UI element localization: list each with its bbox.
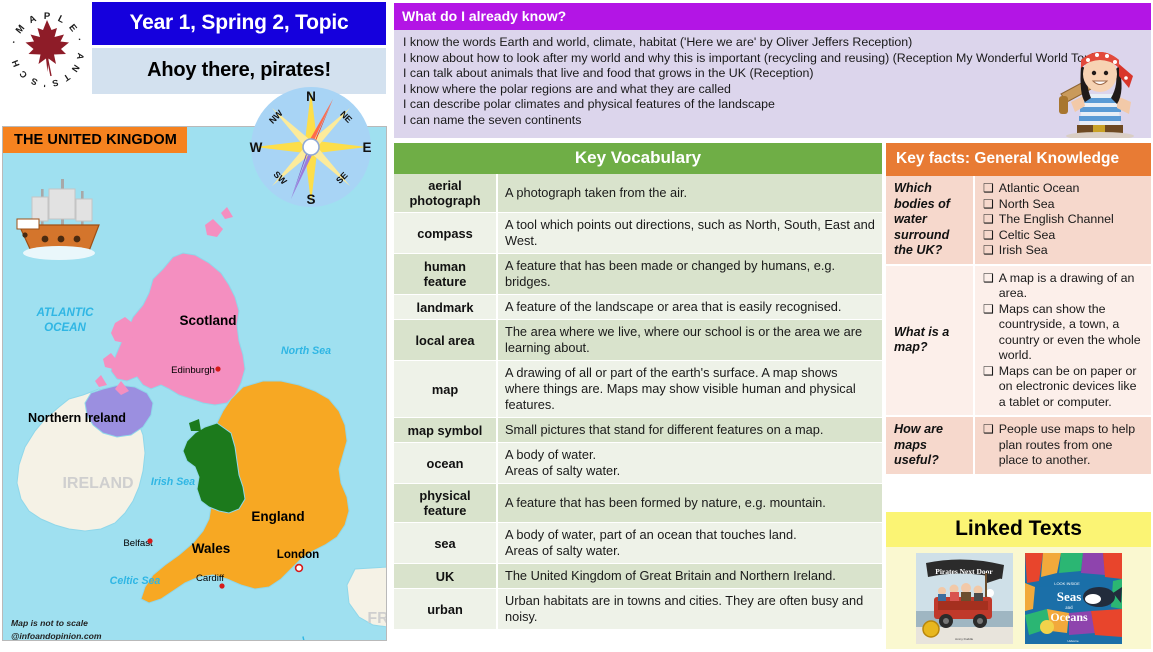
checkbox-icon: ❑ [983,364,994,380]
map-water-celtic-sea: Celtic Sea [110,575,161,587]
map-label-scotland: Scotland [179,313,236,328]
vocab-definition: Small pictures that stand for different … [497,418,882,443]
prior-knowledge-item: I know the words Earth and world, climat… [403,35,1143,51]
key-facts-answer-item: Atlantic Ocean [999,181,1145,197]
checkbox-icon: ❑ [983,212,994,228]
key-facts-answers: ❑Atlantic Ocean ❑North Sea ❑The English … [974,176,1151,265]
key-facts-question: How are maps useful? [886,416,974,475]
prior-knowledge-heading: What do I already know? [394,3,1151,30]
map-city-cardiff: Cardiff [196,573,224,584]
svg-text:E: E [362,140,371,155]
checkbox-icon: ❑ [983,197,994,213]
linked-texts-heading: Linked Texts [886,512,1151,547]
vocab-term: human feature [394,254,497,295]
table-row: map symbolSmall pictures that stand for … [394,418,882,443]
map-label-wales: Wales [192,541,231,556]
key-facts-question: Which bodies of water surround the UK? [886,176,974,265]
vocab-term: urban [394,589,497,630]
page-title-term: Year 1, Spring 2, Topic [92,2,386,45]
map-city-london: London [277,548,320,561]
vocab-term: sea [394,523,497,564]
checkbox-icon: ❑ [983,302,994,318]
key-facts-panel: Key facts: General Knowledge Which bodie… [886,143,1151,506]
key-facts-answer-item: North Sea [999,197,1145,213]
map-water-atlantic-2: OCEAN [44,321,86,334]
map-credit-source: @infoandopinion.com [11,631,102,641]
prior-knowledge-item: I can name the seven continents [403,113,1143,129]
compass-rose-icon: N S E W NW NE SW SE [247,83,375,211]
vocab-term: ocean [394,443,497,484]
map-label-ireland: IRELAND [62,475,133,492]
linked-texts-book-list: Pirates Next Door Jonny Duddle [886,547,1151,644]
vocab-definition: The area where we live, where our school… [497,320,882,361]
vocab-definition: A feature of the landscape or area that … [497,295,882,320]
svg-text:Pirates Next Door: Pirates Next Door [935,567,993,576]
key-facts-answer-item: Maps can be on paper or on electronic de… [999,364,1145,411]
vocab-definition: A drawing of all or part of the earth's … [497,361,882,418]
knowledge-organiser-page: · M A P L E · I N F A N T S ' S C H O O … [0,0,1153,652]
seas-and-oceans-cover[interactable]: LOOK INSIDE Seas and Oceans Usborne [1025,553,1122,644]
key-facts-answer-item: The English Channel [999,212,1145,228]
table-row: What is a map? ❑A map is a drawing of an… [886,265,1151,417]
svg-text:Usborne: Usborne [1067,639,1079,643]
table-row: local areaThe area where we live, where … [394,320,882,361]
svg-text:Oceans: Oceans [1050,610,1088,624]
svg-text:LOOK INSIDE: LOOK INSIDE [1054,581,1080,586]
map-water-irish-sea: Irish Sea [151,476,195,488]
vocab-term: UK [394,564,497,589]
vocab-definition: A feature that has been made or changed … [497,254,882,295]
prior-knowledge-panel: What do I already know? I know the words… [394,3,1151,139]
key-vocabulary-heading: Key Vocabulary [394,143,882,174]
prior-knowledge-item: I know where the polar regions are and w… [403,82,1143,98]
vocab-definition: A body of water, part of an ocean that t… [497,523,882,564]
table-row: Which bodies of water surround the UK? ❑… [886,176,1151,265]
vocab-definition: A feature that has been formed by nature… [497,484,882,523]
key-facts-answer-item: A map is a drawing of an area. [999,271,1145,302]
table-row: aerial photographA photograph taken from… [394,174,882,213]
map-water-atlantic-1: ATLANTIC [35,306,94,319]
school-logo: · M A P L E · I N F A N T S ' S C H O O … [4,4,90,90]
table-row: compassA tool which points out direction… [394,213,882,254]
topic-title-block: Year 1, Spring 2, Topic Ahoy there, pira… [92,2,386,94]
map-label-northern-ireland: Northern Ireland [28,411,126,425]
map-label-england: England [251,509,304,524]
vocab-definition: A body of water. Areas of salty water. [497,443,882,484]
svg-text:Seas: Seas [1056,589,1081,604]
prior-knowledge-item: I can describe polar climates and physic… [403,97,1143,113]
vocab-term: local area [394,320,497,361]
key-vocabulary-table: aerial photographA photograph taken from… [394,174,882,630]
vocab-term: map symbol [394,418,497,443]
map-title-banner: THE UNITED KINGDOM [3,127,187,153]
key-facts-answers: ❑People use maps to help plan routes fro… [974,416,1151,475]
table-row: UKThe United Kingdom of Great Britain an… [394,564,882,589]
pirate-boy-icon [1057,36,1143,138]
prior-knowledge-body: I know the words Earth and world, climat… [394,30,1151,138]
vocab-term: physical feature [394,484,497,523]
key-facts-heading: Key facts: General Knowledge [886,143,1151,176]
table-row: physical featureA feature that has been … [394,484,882,523]
key-facts-question: What is a map? [886,265,974,417]
map-credit-scale: Map is not to scale [11,618,88,628]
vocab-definition: A tool which points out directions, such… [497,213,882,254]
checkbox-icon: ❑ [983,271,994,287]
pirates-next-door-cover[interactable]: Pirates Next Door Jonny Duddle [916,553,1013,644]
map-city-edinburgh: Edinburgh [171,365,215,376]
key-facts-answer-item: Irish Sea [999,243,1145,259]
linked-texts-panel: Linked Texts Pirates Next Door [886,512,1151,649]
map-water-north-sea: North Sea [281,345,331,357]
svg-text:W: W [250,140,263,155]
key-facts-answers: ❑A map is a drawing of an area. ❑Maps ca… [974,265,1151,417]
checkbox-icon: ❑ [983,181,994,197]
vocab-term: compass [394,213,497,254]
svg-text:N: N [306,89,316,104]
key-facts-answer-item: People use maps to help plan routes from… [999,422,1145,469]
maple-leaf-logo-icon: · M A P L E · I N F A N T S ' S C H O O … [4,4,90,90]
svg-text:S: S [306,192,315,207]
table-row: seaA body of water, part of an ocean tha… [394,523,882,564]
table-row: oceanA body of water. Areas of salty wat… [394,443,882,484]
vocab-definition: The United Kingdom of Great Britain and … [497,564,882,589]
vocab-definition: Urban habitats are in towns and cities. … [497,589,882,630]
map-label-france: FR [367,610,387,627]
svg-text:Jonny Duddle: Jonny Duddle [954,637,973,641]
checkbox-icon: ❑ [983,243,994,259]
vocab-definition: A photograph taken from the air. [497,174,882,213]
table-row: How are maps useful? ❑People use maps to… [886,416,1151,475]
key-facts-table: Which bodies of water surround the UK? ❑… [886,176,1151,476]
table-row: mapA drawing of all or part of the earth… [394,361,882,418]
vocab-term: map [394,361,497,418]
key-facts-answer-item: Maps can show the countryside, a town, a… [999,302,1145,364]
vocab-term: aerial photograph [394,174,497,213]
key-vocabulary-panel: Key Vocabulary aerial photographA photog… [394,143,882,649]
key-facts-answer-item: Celtic Sea [999,228,1145,244]
prior-knowledge-item: I know about how to look after my world … [403,51,1143,67]
checkbox-icon: ❑ [983,422,994,438]
table-row: human featureA feature that has been mad… [394,254,882,295]
vocab-term: landmark [394,295,497,320]
table-row: landmarkA feature of the landscape or ar… [394,295,882,320]
prior-knowledge-item: I can talk about animals that live and f… [403,66,1143,82]
checkbox-icon: ❑ [983,228,994,244]
table-row: urbanUrban habitats are in towns and cit… [394,589,882,630]
